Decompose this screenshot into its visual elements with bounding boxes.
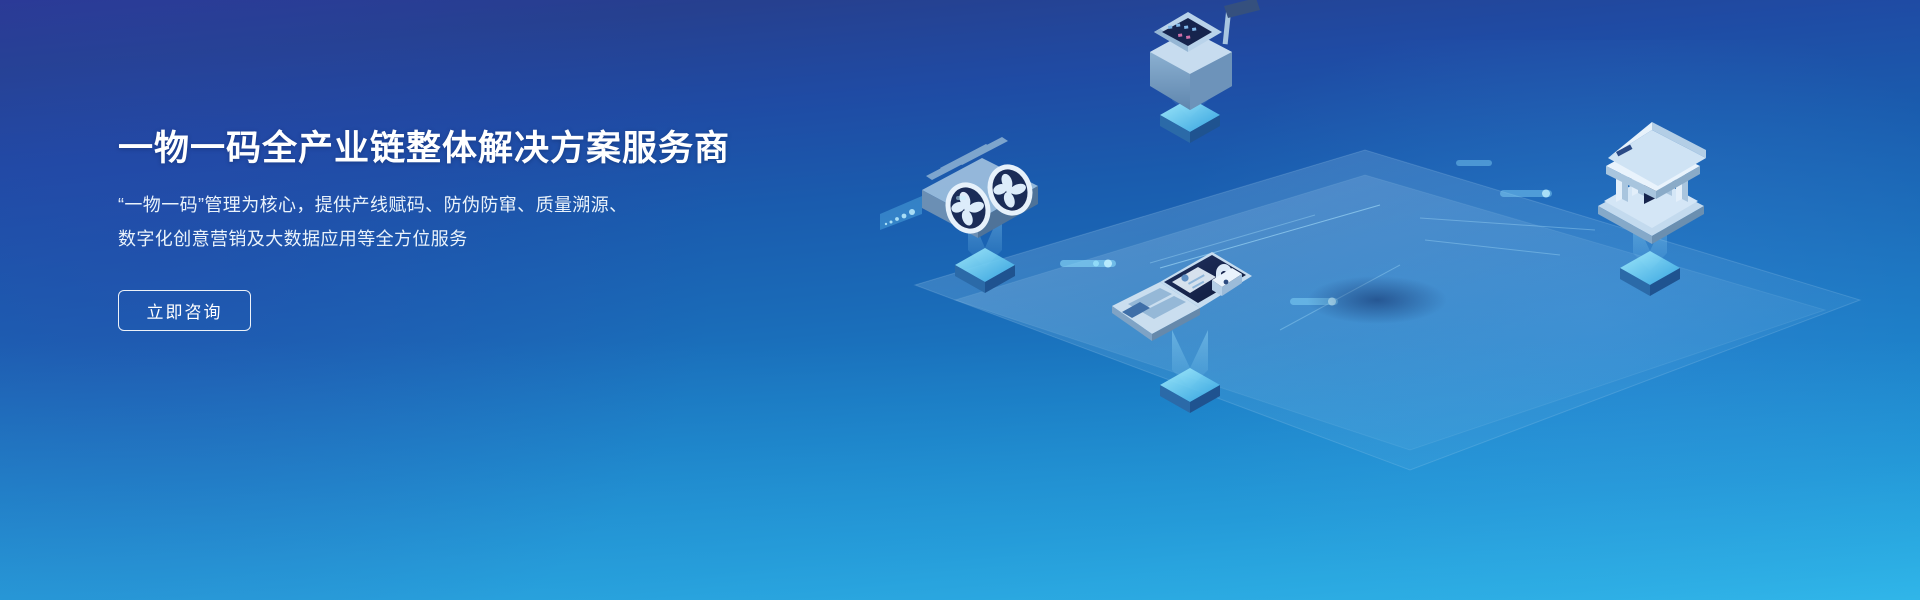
hero-copy: 一物一码全产业链整体解决方案服务商 “一物一码”管理为核心，提供产线赋码、防伪防… <box>118 128 818 331</box>
hero-illustration <box>860 0 1920 600</box>
consult-now-button[interactable]: 立即咨询 <box>118 290 251 331</box>
page-title: 一物一码全产业链整体解决方案服务商 <box>118 128 818 170</box>
hero-banner: 一物一码全产业链整体解决方案服务商 “一物一码”管理为核心，提供产线赋码、防伪防… <box>0 0 1920 600</box>
subtitle-line-2: 数字化创意营销及大数据应用等全方位服务 <box>118 222 818 256</box>
subtitle-line-1: “一物一码”管理为核心，提供产线赋码、防伪防窜、质量溯源、 <box>118 188 818 222</box>
pos-terminal-node <box>1150 0 1260 143</box>
isometric-scene <box>860 0 1920 600</box>
